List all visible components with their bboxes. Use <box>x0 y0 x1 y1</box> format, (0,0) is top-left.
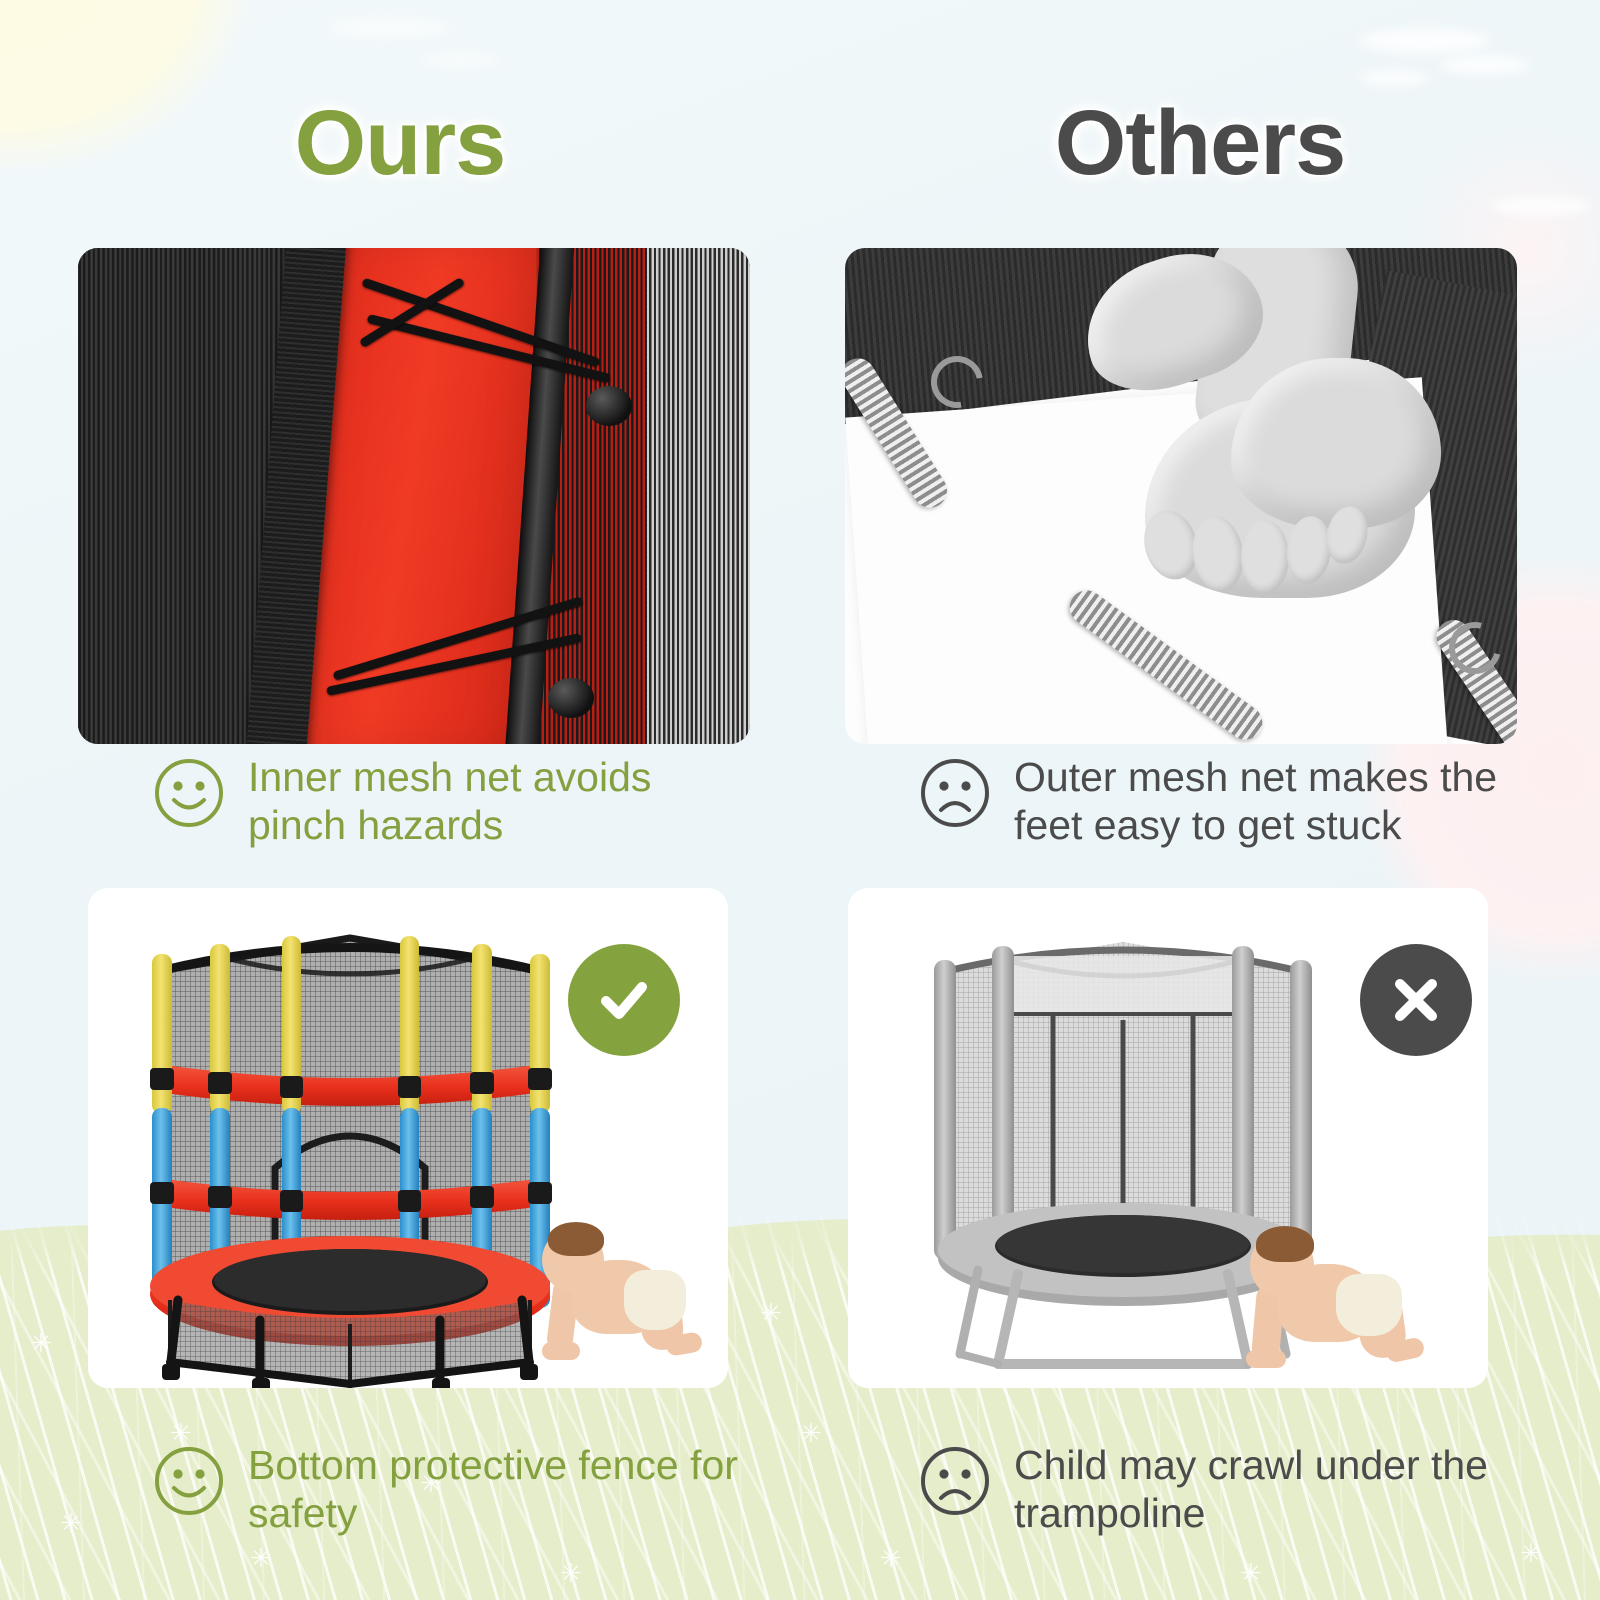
caption-crawl-under: Child may crawl under the trampoline <box>918 1440 1538 1537</box>
caption-bottom-fence: Bottom protective fence for safety <box>152 1440 752 1537</box>
cord-knot <box>586 386 632 426</box>
comparison-infographic: Ours Others <box>0 0 1600 1600</box>
baby-hand <box>1246 1350 1286 1368</box>
caption-text: Outer mesh net makes the feet easy to ge… <box>1014 752 1538 849</box>
sad-face-icon <box>918 1444 992 1523</box>
caption-text: Bottom protective fence for safety <box>248 1440 752 1537</box>
smiley-face-icon <box>152 756 226 835</box>
photo-foot-on-springs <box>845 248 1517 744</box>
close-icon <box>1387 971 1445 1029</box>
baby-diaper <box>1336 1274 1402 1336</box>
cross-badge <box>1360 944 1472 1056</box>
caption-text: Inner mesh net avoids pinch hazards <box>248 752 752 849</box>
baby-toe <box>1241 520 1289 594</box>
heading-others: Others <box>800 78 1600 208</box>
smiley-face-icon <box>152 1444 226 1523</box>
sad-face-icon <box>918 756 992 835</box>
caption-outer-mesh: Outer mesh net makes the feet easy to ge… <box>918 752 1538 849</box>
baby-hand <box>542 1342 580 1360</box>
caption-inner-mesh: Inner mesh net avoids pinch hazards <box>152 752 752 849</box>
heading-ours: Ours <box>0 78 800 208</box>
crawling-baby-under-trampoline <box>1240 1218 1430 1376</box>
cord-knot <box>548 678 594 718</box>
check-badge <box>568 944 680 1056</box>
column-headings: Ours Others <box>0 78 1600 208</box>
check-icon <box>592 968 656 1032</box>
crawling-baby-illustration <box>528 1216 708 1368</box>
caption-text: Child may crawl under the trampoline <box>1014 1440 1538 1537</box>
grey-mesh-panel <box>647 248 750 744</box>
foot-springs-image <box>845 248 1517 744</box>
baby-hair <box>548 1222 604 1256</box>
mesh-macro-image <box>78 248 750 744</box>
baby-hair <box>1256 1226 1314 1262</box>
baby-diaper <box>624 1270 686 1330</box>
photo-inner-mesh-closeup <box>78 248 750 744</box>
